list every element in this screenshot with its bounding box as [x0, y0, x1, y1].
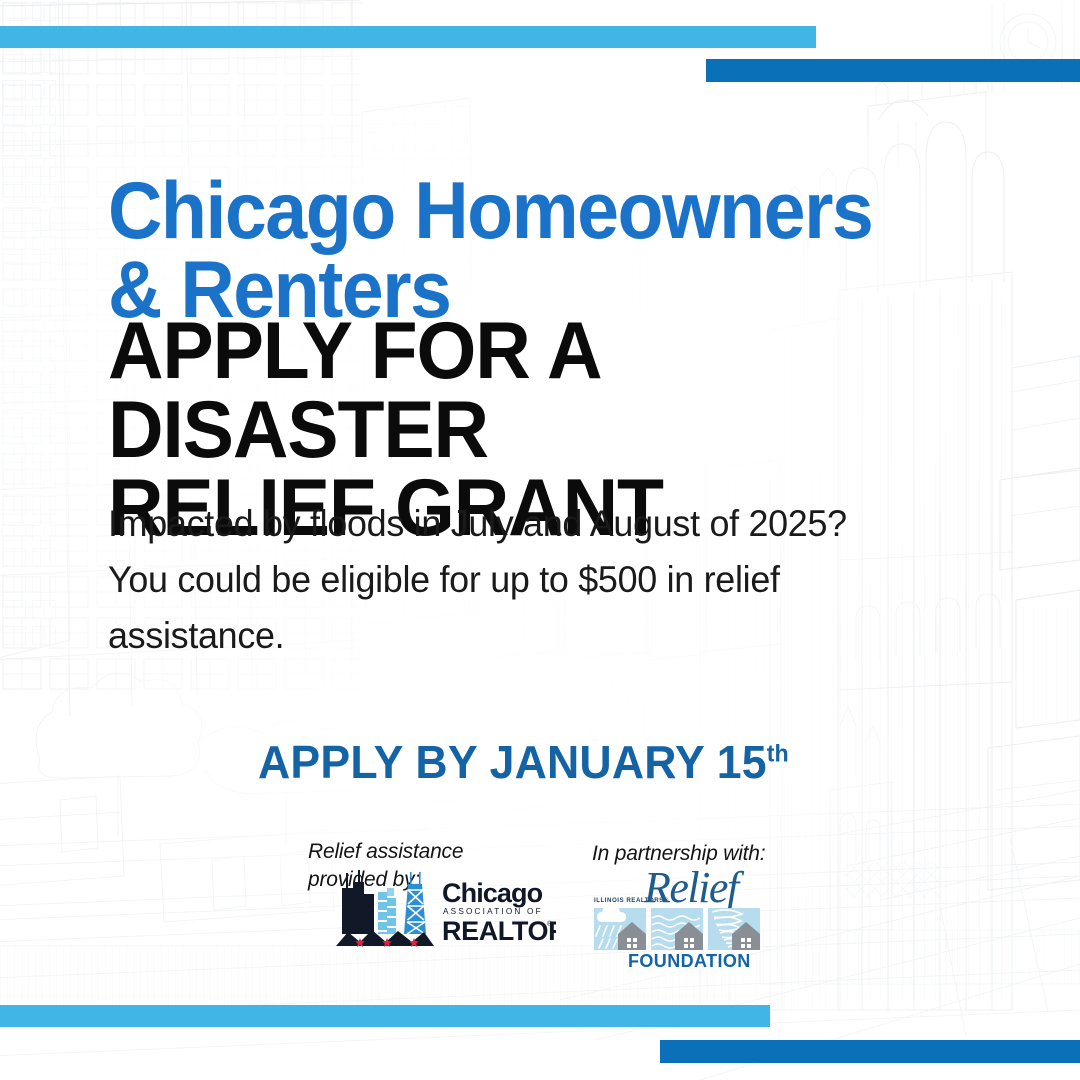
deadline-callout: APPLY BY JANUARY 15th [258, 735, 789, 789]
foundation-wordmark: FOUNDATION [628, 951, 751, 971]
poster-content: Chicago Homeowners & Renters APPLY FOR A… [0, 0, 1080, 1080]
hancock-tower-shape [404, 872, 426, 934]
deadline-ordinal-suffix: th [767, 741, 789, 768]
poster-canvas: Chicago Homeowners & Renters APPLY FOR A… [0, 0, 1080, 1080]
willis-tower-shape [342, 870, 374, 934]
relief-script-text: Relief [643, 866, 745, 912]
aqua-tower-shape [378, 888, 396, 934]
illinois-realtors-relief-foundation-logo: ILLINOIS REALTORS® Relief [592, 866, 767, 971]
svg-text:ASSOCIATION OF: ASSOCIATION OF [443, 907, 543, 916]
chicago-association-of-realtors-logo: Chicago ASSOCIATION OF REALTORS ® [334, 868, 556, 948]
svg-text:Chicago: Chicago [442, 878, 543, 908]
partner-credit-label: In partnership with: [592, 840, 782, 868]
body-paragraph: Impacted by floods in July and August of… [108, 496, 884, 665]
deadline-text: APPLY BY JANUARY 15 [258, 736, 767, 788]
svg-text:REALTORS: REALTORS [442, 916, 556, 946]
credits-row: Relief assistance provided by: [0, 838, 1080, 978]
svg-text:®: ® [547, 920, 553, 928]
